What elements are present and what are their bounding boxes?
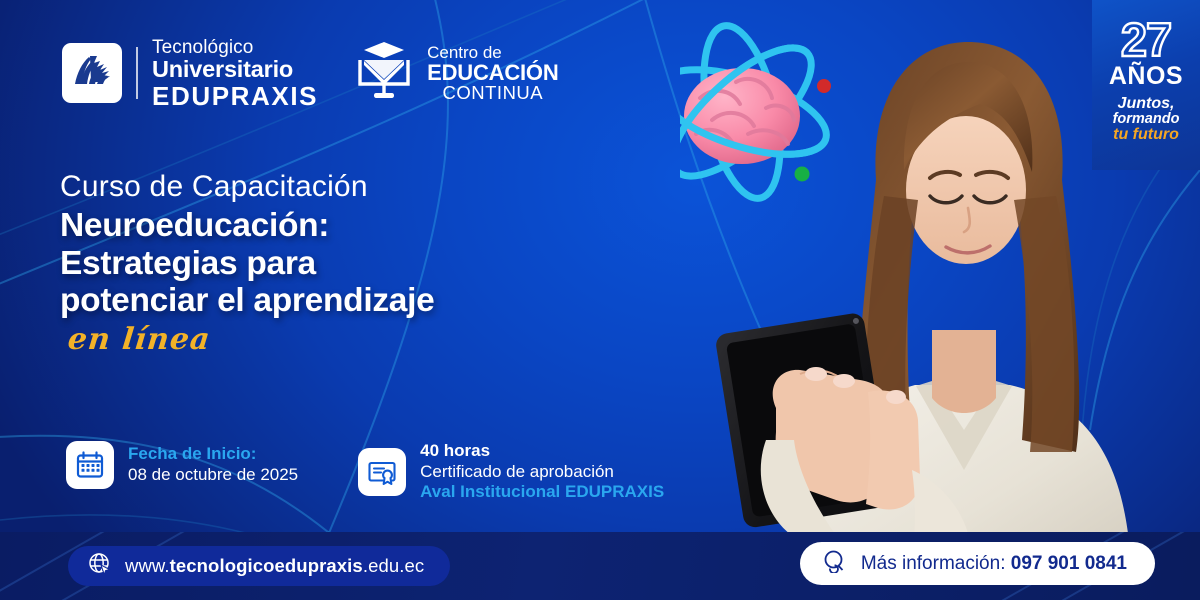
contact-text: Más información: 097 901 0841 (861, 553, 1127, 575)
logo-line-universitario: Universitario (152, 58, 318, 82)
monitor-graduation-cap-icon (352, 40, 416, 107)
website-url: www.tecnologicoedupraxis.edu.ec (125, 555, 424, 577)
headline-title: Neuroeducación: Estrategias para potenci… (60, 207, 700, 320)
headline-title-line3: potenciar el aprendizaje (60, 282, 700, 320)
logo-centro-educacion-continua: Centro de EDUCACIÓN CONTINUA (352, 40, 558, 107)
logo-cec-wordmark: Centro de EDUCACIÓN CONTINUA (427, 44, 558, 103)
headline-script-line: en línea (66, 322, 212, 357)
feature-certificate-text: 40 horas Certificado de aprobación Aval … (420, 441, 664, 503)
feature-start-date-value: 08 de octubre de 2025 (128, 465, 298, 486)
headline-title-line1: Neuroeducación: (60, 207, 700, 245)
logo-row: Tecnológico Universitario EDUPRAXIS (62, 38, 559, 109)
url-suffix: .edu.ec (363, 555, 424, 576)
feature-start-date: Fecha de Inicio: 08 de octubre de 2025 (66, 441, 298, 489)
anniversary-unit: AÑOS (1109, 64, 1183, 89)
logo-line-centro-de: Centro de (427, 44, 558, 61)
feature-hours: 40 horas (420, 441, 664, 462)
feature-endorsement: Aval Institucional EDUPRAXIS (420, 482, 664, 503)
certificate-icon (358, 448, 406, 496)
url-domain: tecnologicoedupraxis (170, 555, 363, 576)
logo-line-edupraxis: EDUPRAXIS (152, 83, 318, 109)
contact-phone: 097 901 0841 (1011, 553, 1127, 574)
feature-start-date-label: Fecha de Inicio: (128, 444, 298, 465)
feature-certificate-value: Certificado de aprobación (420, 462, 664, 483)
anniversary-tagline-line3: tu futuro (1113, 127, 1180, 143)
globe-cursor-icon (88, 552, 112, 581)
logo-line-continua: CONTINUA (427, 84, 558, 103)
logo-line-educacion: EDUCACIÓN (427, 62, 558, 84)
logo-edupraxis-wordmark: Tecnológico Universitario EDUPRAXIS (152, 38, 318, 109)
logo-divider (136, 47, 138, 99)
anniversary-tagline-line1: Juntos, (1113, 96, 1180, 112)
anniversary-tagline: Juntos, formando tu futuro (1113, 96, 1180, 143)
feature-row: Fecha de Inicio: 08 de octubre de 2025 4… (66, 441, 664, 503)
contact-label: Más información: (861, 553, 1011, 574)
feature-certificate: 40 horas Certificado de aprobación Aval … (358, 441, 664, 503)
eagle-shield-icon (62, 43, 122, 103)
headline-kicker: Curso de Capacitación (60, 170, 700, 203)
logo-line-tecnologico: Tecnológico (152, 38, 318, 57)
chat-bubble-icon (822, 549, 848, 578)
anniversary-tagline-line2: formando (1113, 112, 1180, 127)
website-pill[interactable]: www.tecnologicoedupraxis.edu.ec (68, 546, 450, 586)
anniversary-badge: 27 AÑOS Juntos, formando tu futuro (1092, 0, 1200, 170)
calendar-icon (66, 441, 114, 489)
anniversary-number: 27 (1121, 18, 1171, 63)
headline-title-line2: Estrategias para (60, 245, 700, 283)
headline-block: Curso de Capacitación Neuroeducación: Es… (60, 170, 700, 357)
feature-start-date-text: Fecha de Inicio: 08 de octubre de 2025 (128, 444, 298, 485)
url-prefix: www. (125, 555, 170, 576)
promotional-banner: 27 AÑOS Juntos, formando tu futuro (0, 0, 1200, 600)
logo-edupraxis: Tecnológico Universitario EDUPRAXIS (62, 38, 318, 109)
contact-pill[interactable]: Más información: 097 901 0841 (800, 542, 1155, 585)
